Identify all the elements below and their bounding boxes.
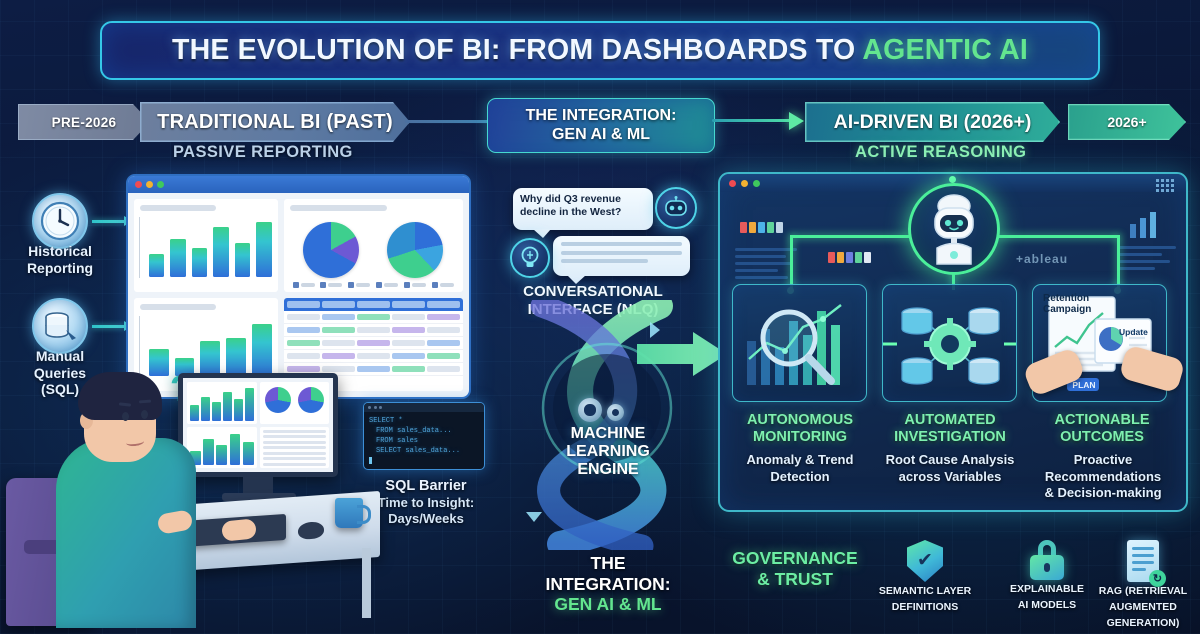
sql-line-2: FROM sales_data... (369, 426, 479, 436)
timeline-chevron-2026-plus[interactable]: 2026+ (1068, 104, 1186, 140)
desk-leg (362, 548, 371, 618)
database-gear-icon (883, 285, 1017, 402)
col2-sub-line1: Root Cause Analysis (865, 452, 1035, 469)
monitor-bar-chart-2 (187, 427, 257, 469)
ai-window-close-icon[interactable] (729, 180, 736, 187)
window-titlebar (128, 176, 469, 193)
table-cell (427, 327, 460, 333)
column-title-automated-investigation: AUTOMATED INVESTIGATION (870, 412, 1030, 446)
update-label: Update (1119, 327, 1148, 337)
monitor-pie-a (265, 387, 291, 413)
bar-chart-icon-corner (1128, 210, 1162, 240)
table-cell (322, 314, 355, 320)
autonomous-monitoring-card[interactable] (732, 284, 867, 402)
governance-title: GOVERNANCE & TRUST (715, 548, 875, 590)
bar-chart-panel-top (134, 199, 278, 292)
document-icon: ↻ (1127, 540, 1159, 582)
col1-sub-line1: Anomaly & Trend (715, 452, 885, 469)
table-cell (427, 314, 460, 320)
governance-item-semantic-layer[interactable]: SEMANTIC LAYER DEFINITIONS (866, 540, 984, 614)
integ-bottom-line3: GEN AI & ML (498, 594, 718, 615)
table-cell (392, 340, 425, 346)
table-header-row (284, 298, 463, 311)
col2-title-line2: INVESTIGATION (870, 429, 1030, 446)
col3-title-line2: OUTCOMES (1022, 429, 1182, 446)
gear-icon-small (607, 404, 624, 421)
page-title: THE EVOLUTION OF BI: FROM DASHBOARDS TO … (172, 34, 1028, 67)
clock-label-line1: Historical (0, 243, 120, 260)
table-cell (427, 366, 460, 372)
question-bubble[interactable]: Why did Q3 revenue decline in the West? (513, 188, 653, 230)
gov1-line2: DEFINITIONS (866, 601, 984, 614)
sql-line-4: SELECT sales_data... (369, 446, 479, 456)
table-cell (287, 327, 320, 333)
legend-item (376, 282, 398, 288)
answer-bubble (553, 236, 690, 276)
lightbulb-glyph (518, 245, 542, 271)
left-sidebar-lines (735, 248, 797, 283)
legend-item (432, 282, 454, 288)
ml-line1: MACHINE (523, 425, 693, 443)
table-cell (322, 340, 355, 346)
ml-engine-caption: MACHINE LEARNING ENGINE (523, 425, 693, 480)
table-column-header (322, 301, 355, 308)
col2-title-line1: AUTOMATED (870, 412, 1030, 429)
terminal-caret (369, 457, 479, 467)
clock-glyph (39, 200, 81, 242)
window-maximize-icon[interactable] (157, 181, 164, 188)
pie-chart-group (290, 216, 457, 283)
panel-title-placeholder (290, 205, 387, 211)
desktop-monitor (178, 373, 338, 477)
table-cell (392, 314, 425, 320)
col1-sub-line2: Detection (715, 469, 885, 486)
col1-title-line2: MONITORING (720, 429, 880, 446)
timeline-chevron-traditional[interactable]: TRADITIONAL BI (PAST) (140, 102, 410, 142)
timeline-future-year: 2026+ (1107, 114, 1146, 130)
analyst-body (56, 438, 196, 628)
table-cell (427, 353, 460, 359)
sql-line-3: FROM sales (369, 436, 479, 446)
terminal-output: SELECT * FROM sales_data... FROM sales S… (364, 412, 484, 470)
monitor-pie-charts (260, 382, 330, 424)
gov-title-line1: GOVERNANCE (715, 548, 875, 569)
page-title-main: THE EVOLUTION OF BI: FROM DASHBOARDS TO (172, 34, 862, 66)
sql-line-1: SELECT * (369, 416, 479, 426)
answer-line (561, 242, 682, 246)
integration-bottom-caption: THE INTEGRATION: GEN AI & ML (498, 553, 718, 615)
right-sidebar-lines (1118, 246, 1176, 274)
col3-title-line1: ACTIONABLE (1022, 412, 1182, 429)
coffee-mug (335, 498, 363, 528)
ai-window-minimize-icon[interactable] (741, 180, 748, 187)
automated-investigation-card[interactable] (882, 284, 1017, 402)
table-cell (357, 327, 390, 333)
timeline-connector-left (405, 120, 495, 123)
integ-bottom-line1: THE (498, 553, 718, 574)
bar (192, 248, 207, 277)
bi-tool-logo-icon-2 (828, 252, 871, 263)
governance-item-rag[interactable]: ↻ RAG (RETRIEVAL AUGMENTED GENERATION) (1084, 540, 1200, 629)
table-cell (392, 327, 425, 333)
magnifier-chart-icon (733, 285, 867, 402)
timeline-connector-right (712, 119, 800, 122)
col1-title-line1: AUTONOMOUS (720, 412, 880, 429)
gov1-line1: SEMANTIC LAYER (866, 585, 984, 598)
gov3-line3: GENERATION) (1084, 617, 1200, 630)
infographic-canvas: THE EVOLUTION OF BI: FROM DASHBOARDS TO … (0, 0, 1200, 634)
bar (256, 222, 271, 277)
terminal-titlebar (364, 403, 484, 412)
neon-link-right-h (998, 235, 1120, 238)
monitor-bars-2 (190, 430, 254, 466)
gov-title-line2: & TRUST (715, 569, 875, 590)
bar (170, 239, 185, 277)
plan-button-label[interactable]: PLAN (1071, 380, 1097, 390)
table-cell (322, 327, 355, 333)
bar (149, 254, 164, 277)
integ-bottom-line2: INTEGRATION: (498, 574, 718, 595)
gov3-line1: RAG (RETRIEVAL (1084, 585, 1200, 598)
caption-passive-reporting: PASSIVE REPORTING (173, 143, 353, 162)
timeline-chevron-pre-2026[interactable]: PRE-2026 (18, 104, 150, 140)
caption-active-reasoning: ACTIVE REASONING (855, 143, 1026, 162)
legend-item (293, 282, 315, 288)
table-cell (287, 314, 320, 320)
neon-node-top (949, 176, 956, 183)
neon-link-left-h (790, 235, 910, 238)
table-column-header (287, 301, 320, 308)
window-close-icon[interactable] (135, 181, 142, 188)
legend-item (320, 282, 342, 288)
ai-window-maximize-icon[interactable] (753, 180, 760, 187)
window-minimize-icon[interactable] (146, 181, 153, 188)
pie-chart-a (303, 222, 359, 278)
bi-tool-logo-icon-1 (740, 222, 783, 233)
monitor-screen (183, 378, 333, 472)
legend-item (348, 282, 370, 288)
database-glyph (40, 306, 80, 346)
robot-glyph (911, 186, 997, 272)
clock-icon (32, 193, 88, 249)
analyst-hair (78, 372, 162, 420)
arrow-clock-to-dashboard-icon (92, 220, 125, 223)
chatbot-icon (655, 187, 697, 229)
lightbulb-icon (510, 238, 550, 278)
sql-terminal-window[interactable]: SELECT * FROM sales_data... FROM sales S… (363, 402, 485, 470)
ai-robot-avatar (908, 183, 1000, 275)
timeline-past-label: TRADITIONAL BI (PAST) (157, 111, 393, 134)
clock-icon-label: Historical Reporting (0, 243, 120, 276)
ml-line2: LEARNING (523, 443, 693, 461)
lock-keyhole (1044, 563, 1050, 572)
nlq-line1: CONVERSATIONAL (498, 283, 688, 301)
col3-sub-line2: Recommendations (1018, 469, 1188, 486)
pie-legend (290, 282, 457, 288)
table-row (284, 311, 463, 324)
timeline-chevron-ai-driven[interactable]: AI-DRIVEN BI (2026+) (805, 102, 1060, 142)
column-sub-automated-investigation: Root Cause Analysis across Variables (865, 452, 1035, 485)
neon-link-left-v (790, 235, 793, 290)
ml-line3: ENGINE (523, 461, 693, 479)
clock-label-line2: Reporting (0, 260, 120, 277)
col3-sub-line3: & Decision-making (1018, 485, 1188, 502)
table-column-header (392, 301, 425, 308)
page-title-accent: AGENTIC AI (862, 34, 1028, 66)
monitor-pie-b (298, 387, 324, 413)
page-title-banner: THE EVOLUTION OF BI: FROM DASHBOARDS TO … (100, 21, 1100, 80)
table-column-header (357, 301, 390, 308)
lock-icon (1030, 540, 1064, 580)
table-cell (287, 340, 320, 346)
col3-sub-line1: Proactive (1018, 452, 1188, 469)
gear-icon-large (578, 398, 602, 422)
column-sub-autonomous-monitoring: Anomaly & Trend Detection (715, 452, 885, 485)
big-transition-arrow-icon (637, 330, 729, 378)
pie-chart-b (387, 222, 443, 278)
shield-check-icon (907, 540, 943, 582)
gov3-line2: AUGMENTED (1084, 601, 1200, 614)
analyst-eye-right (141, 410, 148, 419)
legend-item (404, 282, 426, 288)
timeline-integration-box[interactable]: THE INTEGRATION: GEN AI & ML (487, 98, 715, 153)
timeline-pre-label: PRE-2026 (52, 115, 117, 130)
table-cell (392, 366, 425, 372)
neon-link-right-v (1117, 235, 1120, 290)
table-cell (392, 353, 425, 359)
pie-charts-panel (284, 199, 463, 292)
monitor-table (260, 427, 330, 469)
grid-menu-icon[interactable] (1156, 179, 1174, 192)
database-icon (32, 298, 88, 354)
timeline-integration-line2: GEN AI & ML (552, 126, 650, 145)
column-title-autonomous-monitoring: AUTONOMOUS MONITORING (720, 412, 880, 446)
panel-title-placeholder (140, 205, 216, 211)
table-row (284, 324, 463, 337)
monitor-bar-chart (187, 382, 257, 424)
table-cell (357, 314, 390, 320)
analyst-illustration: ? (0, 350, 380, 634)
bar (213, 227, 228, 277)
timeline-arrow-icon (789, 112, 804, 130)
table-row (284, 337, 463, 350)
table-cell (427, 340, 460, 346)
col2-sub-line2: across Variables (865, 469, 1035, 486)
table-column-header (427, 301, 460, 308)
column-sub-actionable-outcomes: Proactive Recommendations & Decision-mak… (1018, 452, 1188, 502)
table-cell (357, 340, 390, 346)
answer-line (561, 259, 648, 263)
panel-title-placeholder (140, 304, 216, 310)
question-bubble-text: Why did Q3 revenue decline in the West? (520, 193, 646, 220)
analyst-eye-left (122, 412, 129, 421)
bar (235, 243, 250, 277)
answer-line (561, 251, 682, 255)
chatbot-glyph (663, 196, 689, 220)
chart-y-axis (139, 217, 140, 278)
tableau-logo-text: +ableau (1016, 252, 1068, 266)
arrow-db-to-dashboard-icon (92, 325, 125, 328)
retention-campaign-heading: Retention Campaign (1043, 293, 1091, 315)
bar-chart-bars (140, 216, 272, 277)
timeline-future-label: AI-DRIVEN BI (2026+) (834, 111, 1032, 134)
timeline-integration-line1: THE INTEGRATION: (526, 107, 677, 126)
retention-line2: Campaign (1043, 304, 1091, 315)
retention-line1: Retention (1043, 293, 1091, 304)
column-title-actionable-outcomes: ACTIONABLE OUTCOMES (1022, 412, 1182, 446)
monitor-bars (190, 385, 254, 421)
